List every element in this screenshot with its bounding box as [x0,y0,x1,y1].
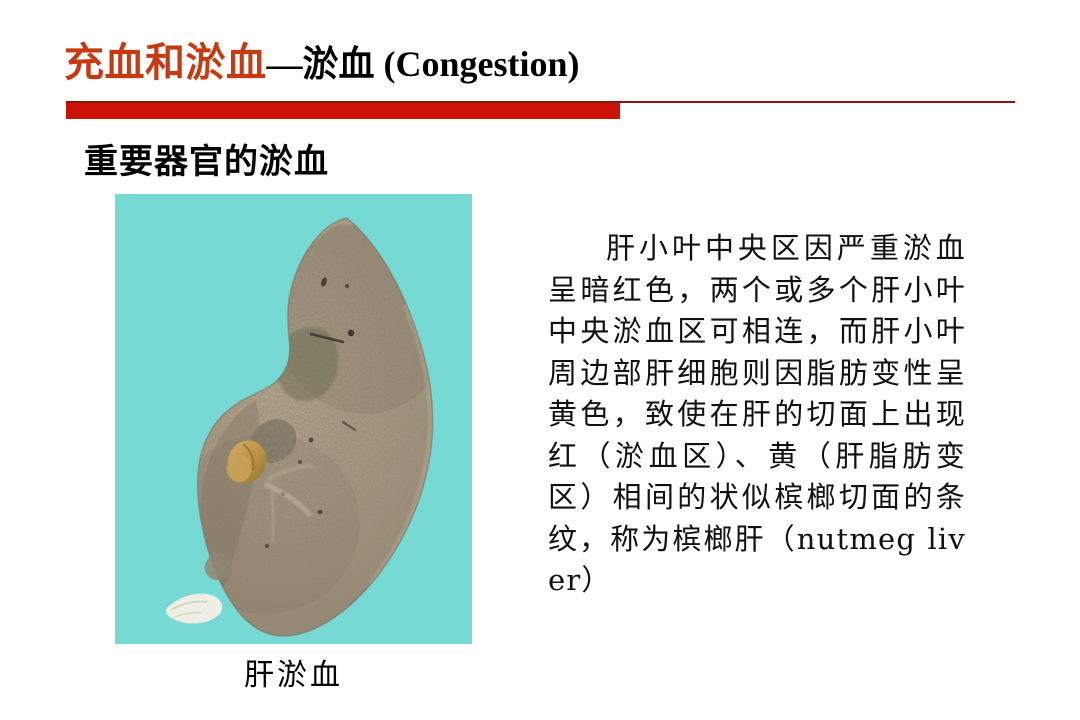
title-chinese-rest: —淤血 (Congestion) [267,44,580,84]
section-subtitle: 重要器官的淤血 [84,134,329,183]
slide-title: 充血和淤血—淤血 (Congestion) [64,32,1024,96]
title-chinese-highlight: 充血和淤血 [64,39,267,86]
figure-caption: 肝淤血 [115,650,472,694]
title-underline-thick-bar [66,103,620,119]
figure-liver-congestion: 肝淤血 [115,194,472,644]
body-paragraph: 肝小叶中央区因严重淤血呈暗红色，两个或多个肝小叶中央淤血区可相连，而肝小叶周边部… [548,228,966,602]
slide-canvas: 充血和淤血—淤血 (Congestion) 重要器官的淤血 [0,0,1080,720]
photo-frame [115,194,472,644]
liver-gross-specimen-photo [115,194,472,644]
